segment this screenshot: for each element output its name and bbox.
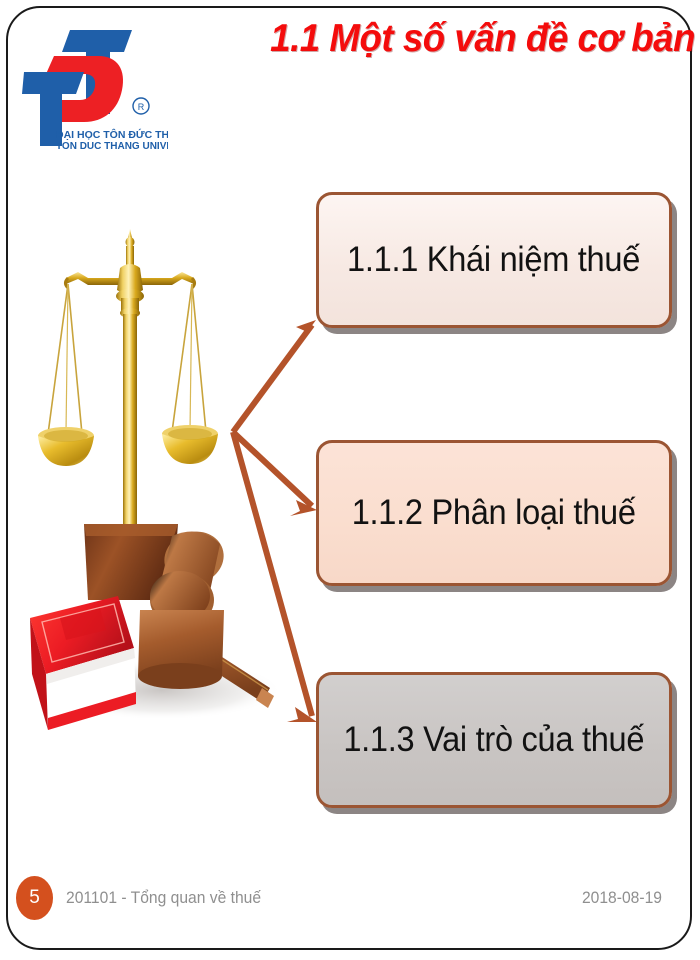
topic-box-3[interactable]: 1.1.3 Vai trò của thuế — [316, 672, 672, 808]
topic-box-3-label: 1.1.3 Vai trò của thuế — [344, 720, 645, 760]
topic-box-2[interactable]: 1.1.2 Phân loại thuế — [316, 440, 672, 586]
logo-text-en: TON DUC THANG UNIVERSITY — [56, 141, 168, 152]
footer-date-label: 2018-08-19 — [582, 888, 662, 908]
tdt-university-logo: R ĐẠI HỌC TÔN ĐỨC THẮNG TON DUC THANG UN… — [18, 28, 168, 156]
topic-box-2-label: 1.1.2 Phân loại thuế — [352, 493, 636, 533]
slide-number-badge: 5 — [16, 876, 53, 920]
justice-scales-gavel-lawbook-image — [22, 218, 294, 738]
topic-box-1-label: 1.1.1 Khái niệm thuế — [347, 240, 640, 280]
presentation-slide: R ĐẠI HỌC TÔN ĐỨC THẮNG TON DUC THANG UN… — [0, 0, 700, 960]
topic-box-1[interactable]: 1.1.1 Khái niệm thuế — [316, 192, 672, 328]
slide-number-text: 5 — [29, 887, 40, 909]
logo-text-vi: ĐẠI HỌC TÔN ĐỨC THẮNG — [56, 128, 168, 141]
svg-text:R: R — [138, 102, 145, 112]
page-title: 1.1 Một số vấn đề cơ bản — [277, 8, 695, 70]
footer-course-label: 201101 - Tổng quan về thuế — [66, 888, 261, 908]
